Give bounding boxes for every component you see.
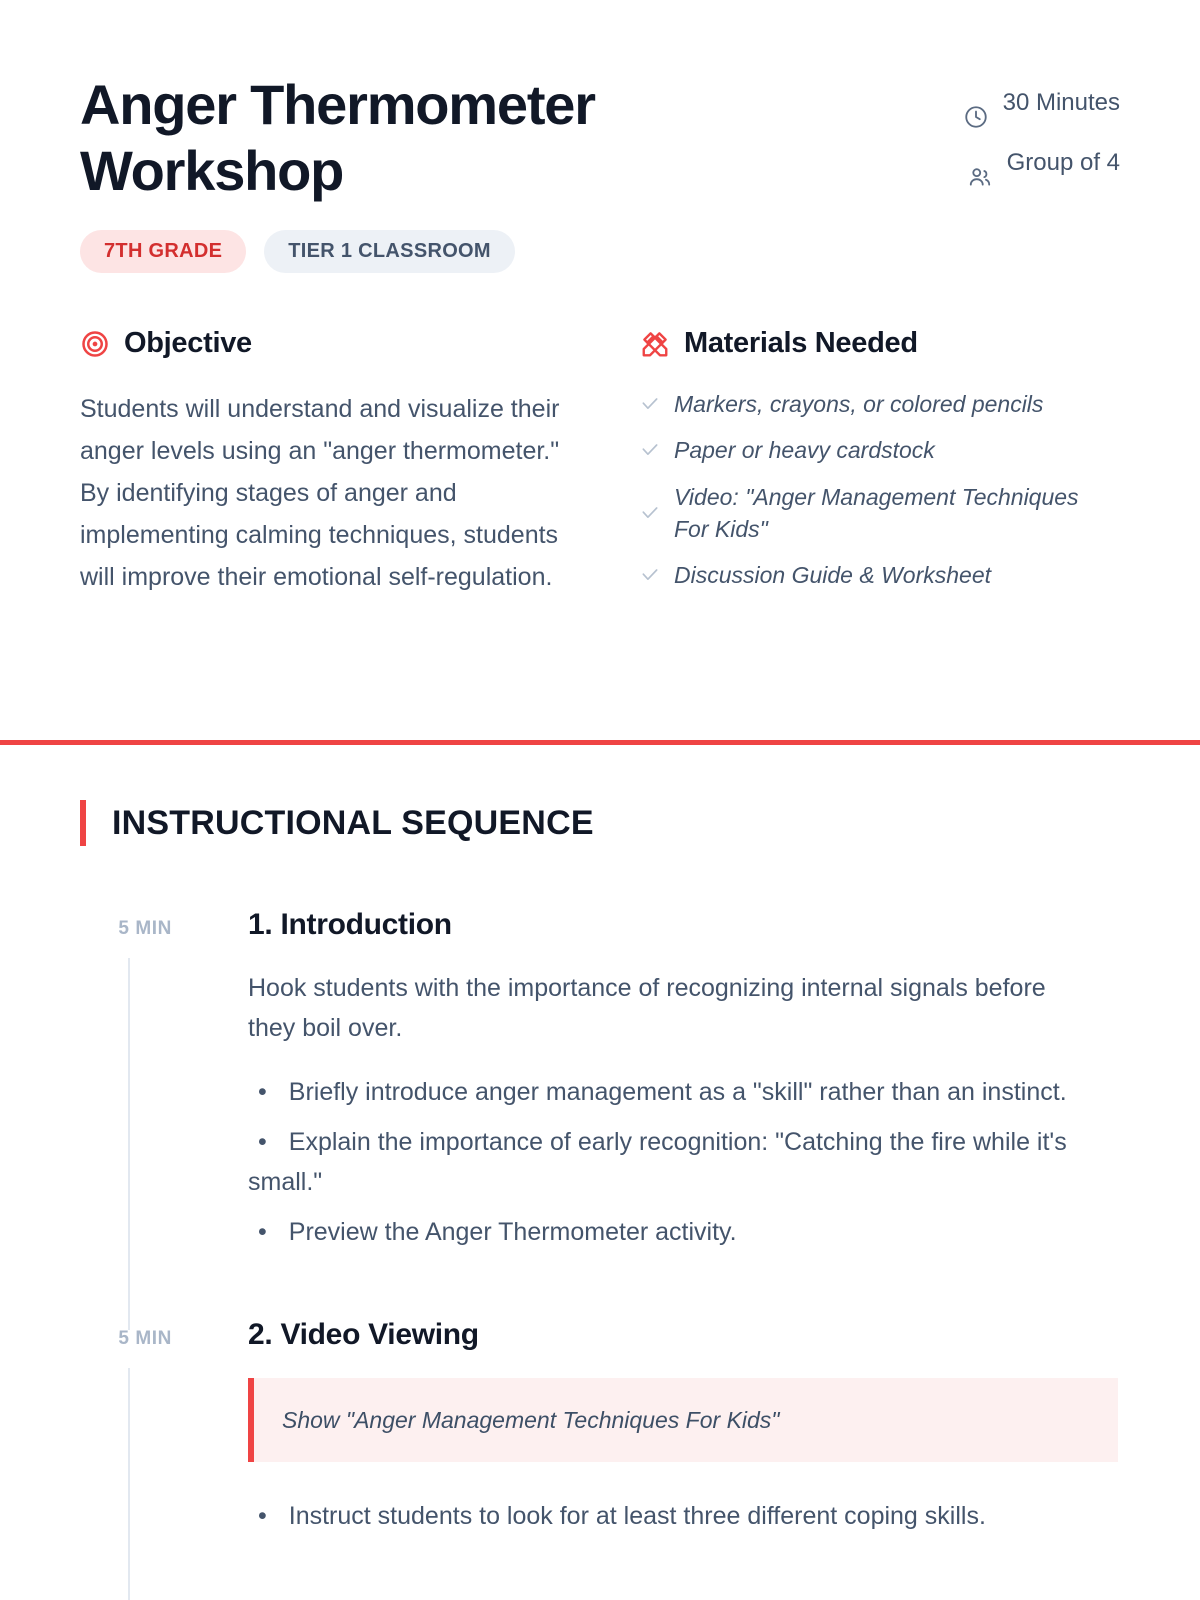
material-text: Discussion Guide & Worksheet [674,559,991,591]
objective-section: Objective Students will understand and v… [80,327,600,605]
bullet-dot: • [248,1496,289,1536]
check-icon [640,503,660,523]
check-icon [640,565,660,585]
meta-group-size-text: Group of 4 [1007,146,1120,180]
objective-text: Students will understand and visualize t… [80,388,570,598]
bullet-text: Briefly introduce anger management as a … [289,1078,1067,1106]
sequence-step: 5 MIN 1. Introduction Hook students with… [80,908,1120,1318]
materials-title: Materials Needed [684,327,918,360]
step-bullet-list: •Briefly introduce anger management as a… [248,1072,1120,1252]
instructional-sequence: INSTRUCTIONAL SEQUENCE 5 MIN 1. Introduc… [0,800,1200,1600]
bullet-text: Instruct students to look for at least t… [289,1502,986,1530]
sequence-step: 5 MIN 2. Video Viewing Show "Anger Manag… [80,1318,1120,1600]
step-title: 2. Video Viewing [248,1318,1120,1352]
page-title: Anger Thermometer Workshop [80,72,740,204]
step-description: Hook students with the importance of rec… [248,968,1068,1048]
page-header: Anger Thermometer Workshop 7TH GRADE TIE… [0,0,1200,273]
timeline-line [128,958,130,1330]
bullet-dot: • [248,1122,289,1162]
header-left: Anger Thermometer Workshop 7TH GRADE TIE… [80,72,780,273]
meta-duration-text: 30 Minutes [1003,86,1120,120]
bullet-text: Explain the importance of early recognit… [248,1128,1067,1196]
step-bullet-list: •Instruct students to look for at least … [248,1496,1120,1536]
badge-group: 7TH GRADE TIER 1 CLASSROOM [80,230,780,273]
list-item: Markers, crayons, or colored pencils [640,388,1120,420]
video-callout: Show "Anger Management Techniques For Ki… [248,1378,1118,1462]
objective-title: Objective [124,327,252,360]
bullet-text: Preview the Anger Thermometer activity. [289,1218,737,1246]
list-item: •Instruct students to look for at least … [248,1496,1078,1536]
meta-duration: 30 Minutes [910,86,1120,130]
sequence-title: INSTRUCTIONAL SEQUENCE [112,804,594,843]
check-icon [640,440,660,460]
check-icon [640,394,660,414]
meta-group-size: Group of 4 [910,146,1120,190]
bullet-dot: • [248,1212,289,1252]
target-icon [80,329,110,359]
materials-list: Markers, crayons, or colored pencils Pap… [640,388,1120,591]
header-meta: 30 Minutes Group of 4 [910,86,1120,190]
clock-icon [963,104,989,130]
material-text: Video: "Anger Management Techniques For … [674,481,1104,545]
sequence-heading: INSTRUCTIONAL SEQUENCE [80,800,1120,846]
objective-heading: Objective [80,327,600,360]
step-body: 2. Video Viewing Show "Anger Management … [172,1318,1120,1600]
step-title: 1. Introduction [248,908,1120,942]
list-item: •Explain the importance of early recogni… [248,1122,1078,1202]
step-time: 5 MIN [80,908,172,940]
step-time-column: 5 MIN [80,908,172,1318]
users-icon [967,164,993,190]
materials-heading: Materials Needed [640,327,1120,360]
material-text: Paper or heavy cardstock [674,434,935,466]
pencil-ruler-icon [640,329,670,359]
info-columns: Objective Students will understand and v… [0,327,1200,605]
list-item: Discussion Guide & Worksheet [640,559,1120,591]
list-item: Paper or heavy cardstock [640,434,1120,466]
lesson-plan-page: Anger Thermometer Workshop 7TH GRADE TIE… [0,0,1200,1600]
list-item: Video: "Anger Management Techniques For … [640,481,1120,545]
sequence-accent-bar [80,800,86,846]
list-item: •Preview the Anger Thermometer activity. [248,1212,1078,1252]
materials-section: Materials Needed Markers, crayons, or co… [640,327,1120,605]
step-body: 1. Introduction Hook students with the i… [172,908,1120,1318]
step-time: 5 MIN [80,1318,172,1350]
badge-tier[interactable]: TIER 1 CLASSROOM [264,230,515,273]
badge-grade[interactable]: 7TH GRADE [80,230,246,273]
callout-text: Show "Anger Management Techniques For Ki… [282,1404,1090,1436]
material-text: Markers, crayons, or colored pencils [674,388,1043,420]
section-divider [0,740,1200,745]
timeline-line [128,1368,130,1600]
list-item: •Briefly introduce anger management as a… [248,1072,1078,1112]
bullet-dot: • [248,1072,289,1112]
step-time-column: 5 MIN [80,1318,172,1600]
